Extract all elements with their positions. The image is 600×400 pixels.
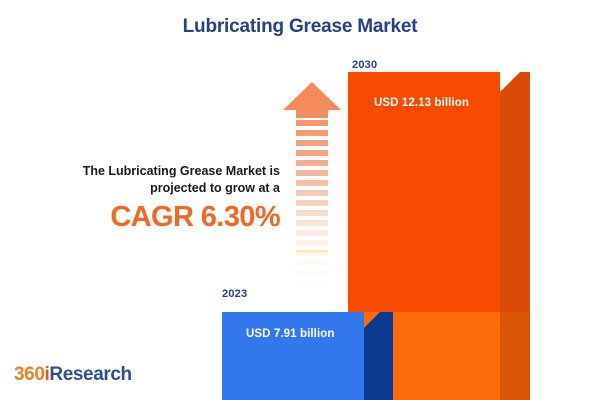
cagr-callout: The Lubricating Grease Market is project…: [20, 163, 280, 234]
infographic-canvas: Lubricating Grease Market 2030: [0, 0, 600, 400]
cagr-lead-line-1: The Lubricating Grease Market is: [20, 163, 280, 180]
upward-growth-arrow: [281, 80, 343, 292]
cagr-value: CAGR 6.30%: [20, 201, 280, 234]
year-label-2023: 2023: [222, 288, 247, 300]
bar-2023-value-label: USD 7.91 billion: [246, 328, 335, 340]
logo-part-research: Research: [49, 364, 131, 385]
bar-2023-front-face: [222, 312, 364, 400]
bar-2030-value-label: USD 12.13 billion: [374, 97, 469, 109]
year-label-2030: 2030: [352, 59, 377, 71]
page-title: Lubricating Grease Market: [0, 16, 600, 38]
brand-logo: 360iResearch: [14, 364, 132, 386]
logo-part-360: 360: [14, 364, 45, 385]
cagr-lead-line-2: projected to grow at a: [20, 180, 280, 197]
bar-2030-side-face-lower: [498, 312, 530, 400]
